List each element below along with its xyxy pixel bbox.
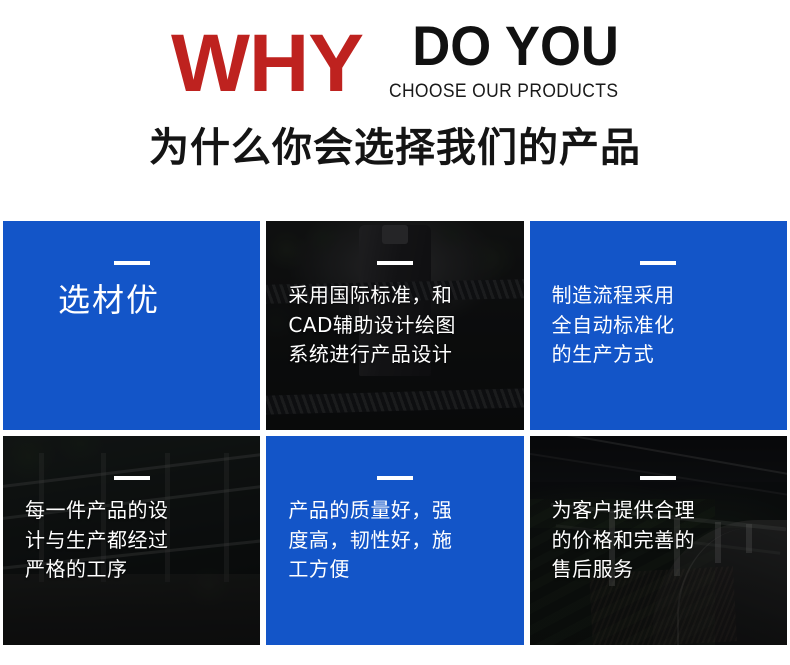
feature-card-3-text: 制造流程采用 全自动标准化 的生产方式 — [530, 281, 685, 370]
card-body: 制造流程采用 全自动标准化 的生产方式 — [530, 221, 787, 430]
feature-card-1-text: 选材优 — [3, 281, 170, 319]
feature-card-5[interactable]: 产品的质量好，强 度高，韧性好，施 工方便 — [266, 436, 523, 645]
page-header: WHY DO YOU CHOOSE OUR PRODUCTS 为什么你会选择我们… — [0, 0, 790, 218]
feature-card-2[interactable]: 采用国际标准，和 CAD辅助设计绘图 系统进行产品设计 — [266, 221, 523, 430]
feature-card-6-text: 为客户提供合理 的价格和完善的 售后服务 — [530, 496, 706, 585]
feature-card-2-text: 采用国际标准，和 CAD辅助设计绘图 系统进行产品设计 — [266, 281, 466, 370]
card-body: 选材优 — [3, 221, 260, 430]
divider-dash-icon — [640, 261, 676, 265]
headline-group: WHY DO YOU CHOOSE OUR PRODUCTS — [0, 18, 790, 98]
headline-do-you: DO YOU — [412, 18, 619, 74]
feature-grid: 选材优 采用国际标准，和 CAD辅助设计绘图 系统进行产品设计 制造流程采用 全 — [3, 221, 787, 645]
feature-card-4-text: 每一件产品的设 计与生产都经过 严格的工序 — [3, 496, 179, 585]
headline-right-stack: DO YOU CHOOSE OUR PRODUCTS — [369, 18, 618, 103]
divider-dash-icon — [640, 476, 676, 480]
feature-card-5-text: 产品的质量好，强 度高，韧性好，施 工方便 — [266, 496, 462, 585]
headline-why: WHY — [171, 25, 363, 103]
divider-dash-icon — [377, 261, 413, 265]
feature-card-1[interactable]: 选材优 — [3, 221, 260, 430]
card-body: 每一件产品的设 计与生产都经过 严格的工序 — [3, 436, 260, 645]
headline-choose-our-products: CHOOSE OUR PRODUCTS — [389, 82, 618, 101]
promo-page: WHY DO YOU CHOOSE OUR PRODUCTS 为什么你会选择我们… — [0, 0, 790, 665]
feature-card-3[interactable]: 制造流程采用 全自动标准化 的生产方式 — [530, 221, 787, 430]
card-body: 采用国际标准，和 CAD辅助设计绘图 系统进行产品设计 — [266, 221, 523, 430]
divider-dash-icon — [114, 261, 150, 265]
divider-dash-icon — [114, 476, 150, 480]
feature-card-4[interactable]: 每一件产品的设 计与生产都经过 严格的工序 — [3, 436, 260, 645]
card-body: 为客户提供合理 的价格和完善的 售后服务 — [530, 436, 787, 645]
card-body: 产品的质量好，强 度高，韧性好，施 工方便 — [266, 436, 523, 645]
divider-dash-icon — [377, 476, 413, 480]
feature-card-6[interactable]: 为客户提供合理 的价格和完善的 售后服务 — [530, 436, 787, 645]
page-title: 为什么你会选择我们的产品 — [0, 126, 790, 170]
